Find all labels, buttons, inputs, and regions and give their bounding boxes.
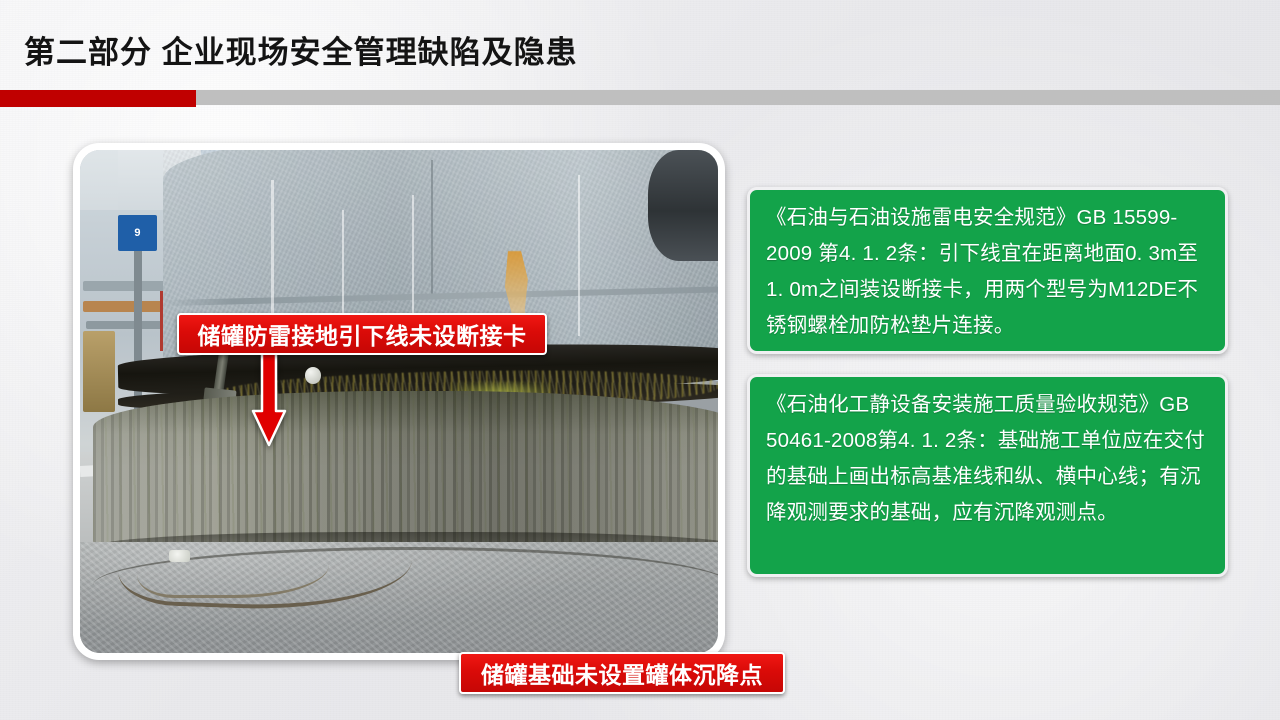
photo-white-cap-object [169, 550, 189, 562]
regulation-box-foundation: 《石油化工静设备安装施工质量验收规范》GB 50461-2008第4. 1. 2… [747, 374, 1228, 577]
page-title: 第二部分 企业现场安全管理缺陷及隐患 [24, 27, 578, 72]
header-divider-gray-segment [196, 90, 1280, 105]
photo-drip-4 [578, 175, 580, 336]
photo-equipment-box [83, 331, 115, 411]
header-divider-red-segment [0, 90, 196, 107]
callout-no-settlement-point: 储罐基础未设置罐体沉降点 [459, 652, 785, 694]
photo-vertical-weld-seam [431, 160, 433, 296]
photo-pipe-3 [86, 321, 163, 329]
photo-pipe-1 [83, 281, 166, 291]
photo-right-vessel [648, 150, 718, 261]
regulation-box-lightning: 《石油与石油设施雷电安全规范》GB 15599-2009 第4. 1. 2条：引… [747, 187, 1228, 354]
slide-canvas: 第二部分 企业现场安全管理缺陷及隐患 9 [0, 0, 1280, 720]
photo-drip-1 [271, 180, 273, 331]
regulation-text-foundation: 《石油化工静设备安装施工质量验收规范》GB 50461-2008第4. 1. 2… [750, 377, 1225, 541]
header-divider [0, 90, 1280, 107]
regulation-text-lightning: 《石油与石油设施雷电安全规范》GB 15599-2009 第4. 1. 2条：引… [750, 190, 1225, 354]
photo-blue-sign: 9 [118, 215, 156, 250]
photo-frame: 9 [73, 143, 725, 660]
site-photo: 9 [80, 150, 718, 653]
down-arrow-icon [251, 349, 287, 447]
callout-grounding-no-disconnect-clamp: 储罐防雷接地引下线未设断接卡 [177, 313, 547, 355]
